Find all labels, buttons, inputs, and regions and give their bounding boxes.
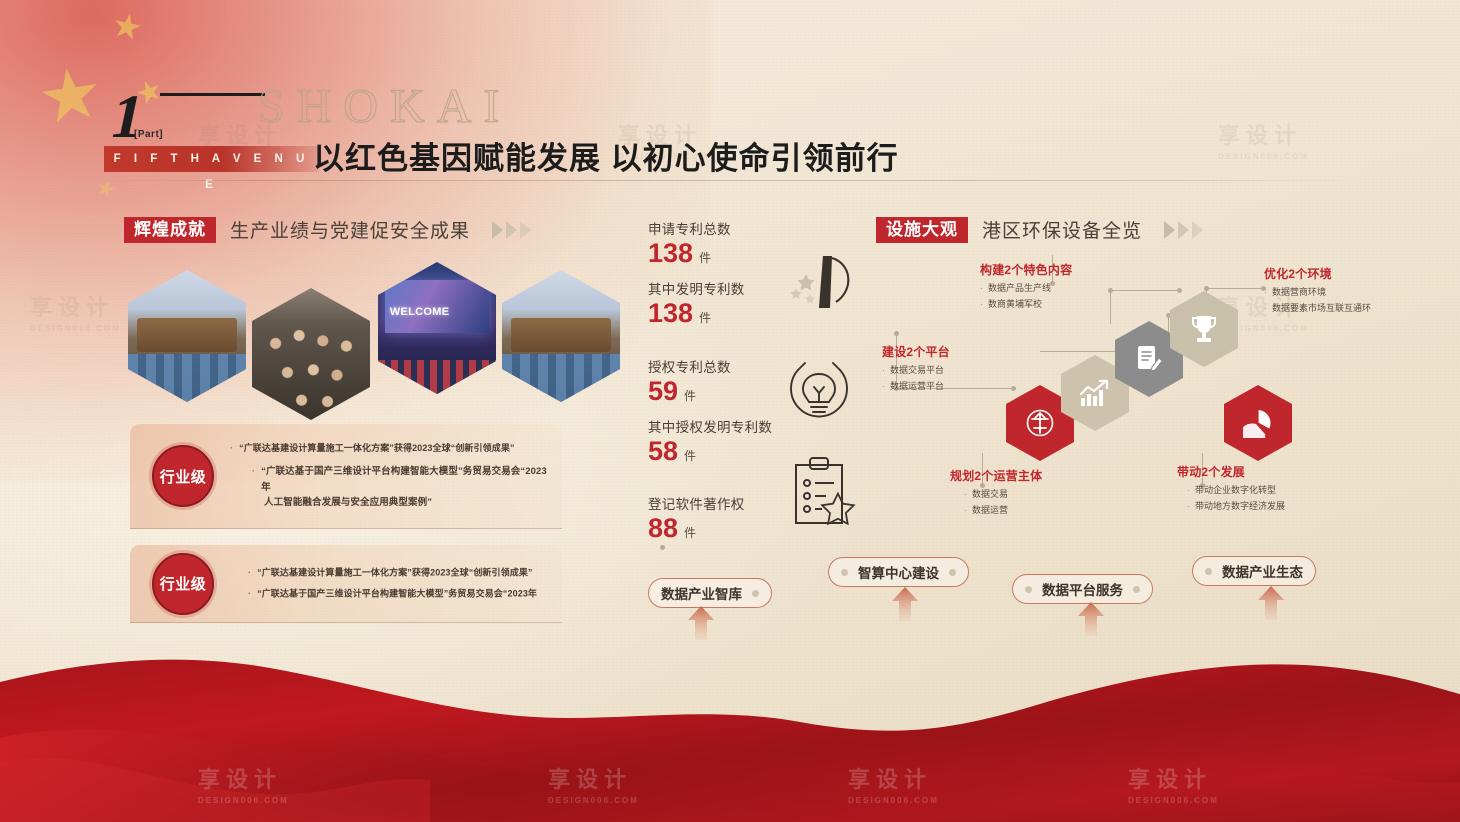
group-item-label: 数商黄埔军校	[988, 297, 1042, 313]
pill-platform-service[interactable]: 数据平台服务	[1012, 574, 1153, 604]
pill-label: 数据平台服务	[1042, 579, 1123, 599]
ribbon-label: F I F T H A V E N U E	[104, 146, 319, 198]
pill-label: 数据产业智库	[661, 583, 742, 603]
page-header: 1 [Part] SHOKAI F I F T H A V E N U E 以红…	[0, 0, 1460, 200]
pie-chart-icon	[1243, 408, 1273, 438]
group-item-label: 数据要素市场互联互通环	[1272, 301, 1371, 317]
award-text: “广联达基于国产三维设计平台构建智能大模型”务贸易交易会“2023年	[257, 587, 537, 602]
photo-gallery: WELCOME	[128, 262, 578, 392]
list-item: · “广联达基于国产三维设计平台构建智能大模型”务贸易交易会“2023年	[230, 587, 548, 602]
bullet-dot-icon: ·	[1264, 285, 1267, 301]
seal-badge: 行业级	[152, 553, 214, 615]
pill-dot-icon	[1205, 568, 1212, 575]
award-card: 行业级 · “广联达基建设计算量施工一体化方案”获得2023全球“创新引领成果”…	[130, 424, 562, 529]
part-label: [Part]	[134, 129, 163, 140]
list-item: · “广联达基建设计算量施工一体化方案”获得2023全球“创新引领成果”	[230, 441, 548, 456]
group-item-label: 数据产品生产线	[988, 281, 1051, 297]
group-title: 建设2个平台	[882, 343, 950, 360]
award-card: 行业级 · “广联达基建设计算量施工一体化方案”获得2023全球“创新引领成果”…	[130, 545, 562, 623]
section-header-facilities: 设施大观 港区环保设备全览	[876, 216, 1203, 243]
brand-wordmark: SHOKAI	[258, 79, 511, 134]
group-item: ·带动地方数字经济发展	[1187, 499, 1285, 515]
group-title: 带动2个发展	[1177, 463, 1285, 480]
connector-dot	[1011, 386, 1016, 391]
bullet-dot-icon: ·	[248, 565, 251, 580]
up-arrow-icon	[688, 606, 714, 640]
seal-label: 行业级	[160, 466, 207, 487]
pill-industry-ecosystem[interactable]: 数据产业生态	[1192, 556, 1316, 586]
bullet-dot-icon: ·	[1264, 301, 1267, 317]
bullet-dot-icon: ·	[1187, 483, 1190, 499]
connector-dot	[1177, 288, 1182, 293]
pill-dot-icon	[841, 569, 848, 576]
group-item-label: 数据交易	[972, 487, 1008, 503]
group-title: 规划2个运营主体	[950, 467, 1042, 484]
stat-label: 申请专利总数	[648, 218, 863, 238]
pill-label: 数据产业生态	[1222, 561, 1303, 581]
stat-unit: 件	[684, 524, 696, 541]
group-item: ·数据交易平台	[882, 363, 950, 379]
stat-unit: 件	[699, 249, 711, 266]
hex-red-right[interactable]	[1224, 385, 1292, 461]
group-item: ·数据要素市场互联互通环	[1264, 301, 1371, 317]
connector-line	[1110, 290, 1111, 324]
award-text: 人工智能融合发展与安全应用典型案例”	[264, 495, 432, 511]
bullet-dot-icon: ·	[882, 363, 885, 379]
hex-photo[interactable]: WELCOME	[378, 262, 496, 394]
connector-dot	[660, 545, 665, 550]
stat-value: 59	[648, 377, 678, 405]
group-item-label: 数据营商环境	[1272, 285, 1326, 301]
stat-value: 58	[648, 437, 678, 465]
header-ribbon: F I F T H A V E N U E	[104, 146, 319, 172]
bullet-dot-icon: ·	[1187, 499, 1190, 515]
seal-label: 行业级	[160, 573, 207, 594]
list-item: · “广联达基于国产三维设计平台构建智能大模型”务贸易交易会“2023年	[230, 464, 548, 495]
award-text: “广联达基建设计算量施工一体化方案”获得2023全球“创新引领成果”	[239, 441, 514, 456]
chevrons-right-icon	[1164, 221, 1203, 239]
header-rule	[160, 93, 265, 96]
stat-unit: 件	[699, 309, 711, 326]
connector-line	[1110, 290, 1180, 291]
stat-unit: 件	[684, 387, 696, 404]
pill-compute-center[interactable]: 智算中心建设	[828, 557, 969, 587]
list-item: · “广联达基建设计算量施工一体化方案”获得2023全球“创新引领成果”	[230, 565, 548, 580]
up-arrow-icon	[1078, 602, 1104, 636]
chevrons-right-icon	[492, 221, 531, 239]
group-item-label: 数据运营平台	[890, 379, 944, 395]
group-item: ·数据运营平台	[882, 379, 950, 395]
connector-dot	[894, 331, 899, 336]
header-divider	[104, 180, 1366, 181]
hex-photo[interactable]	[128, 270, 246, 402]
pill-dot-icon	[949, 569, 956, 576]
group-item-label: 带动企业数字化转型	[1195, 483, 1276, 499]
red-silk-wave	[0, 642, 1460, 822]
group-title: 构建2个特色内容	[980, 261, 1072, 278]
group-item: ·带动企业数字化转型	[1187, 483, 1285, 499]
group-item: ·数商黄埔军校	[980, 297, 1072, 313]
seal-badge: 行业级	[152, 445, 214, 507]
group-item: ·数据产品生产线	[980, 281, 1072, 297]
connector-line	[1206, 288, 1264, 289]
photo-overlay-text: WELCOME	[390, 306, 450, 318]
award-list: · “广联达基建设计算量施工一体化方案”获得2023全球“创新引领成果” · “…	[230, 441, 548, 511]
up-arrow-icon	[1258, 586, 1284, 620]
document-pen-icon	[1134, 343, 1164, 375]
bullet-dot-icon: ·	[248, 587, 251, 602]
connector-dot	[1204, 286, 1209, 291]
bullet-dot-icon: ·	[230, 441, 233, 456]
trophy-icon	[1189, 313, 1219, 345]
bullet-dot-icon: ·	[252, 464, 255, 495]
group-item-label: 带动地方数字经济发展	[1195, 499, 1285, 515]
bullet-dot-icon: ·	[964, 503, 967, 519]
facility-diagram: 构建2个特色内容 ·数据产品生产线 ·数商黄埔军校 优化2个环境 ·数据营商环境…	[872, 255, 1392, 545]
group-item-label: 数据运营	[972, 503, 1008, 519]
hex-photo[interactable]	[502, 270, 620, 402]
up-arrow-icon	[892, 587, 918, 621]
pill-dot-icon	[1025, 586, 1032, 593]
pill-dot-icon	[1133, 586, 1140, 593]
growth-chart-icon	[1078, 378, 1112, 408]
section-subtitle-right: 港区环保设备全览	[982, 216, 1142, 243]
pill-label: 智算中心建设	[858, 562, 939, 582]
clipboard-star-icon	[786, 455, 860, 531]
diagram-group-operator: 规划2个运营主体 ·数据交易 ·数据运营	[950, 467, 1042, 519]
bullet-dot-icon: ·	[980, 281, 983, 297]
section-tag-right: 设施大观	[876, 217, 968, 243]
bullet-dot-icon: ·	[964, 487, 967, 503]
award-list: · “广联达基建设计算量施工一体化方案”获得2023全球“创新引领成果” · “…	[230, 565, 548, 602]
stat-value: 138	[648, 239, 693, 267]
award-text: “广联达基于国产三维设计平台构建智能大模型”务贸易交易会“2023年	[261, 464, 548, 495]
group-item: ·数据交易	[964, 487, 1042, 503]
section-subtitle-left: 生产业绩与党建促安全成果	[230, 216, 470, 243]
stat-value: 88	[648, 514, 678, 542]
page-title: 以红色基因赋能发展 以初心使命引领前行	[313, 133, 899, 178]
ribbon-seal-icon	[1025, 408, 1055, 438]
bullet-dot-icon: ·	[980, 297, 983, 313]
hex-photo[interactable]	[252, 288, 370, 420]
diagram-group-platform: 建设2个平台 ·数据交易平台 ·数据运营平台	[882, 343, 950, 395]
group-item: ·数据运营	[964, 503, 1042, 519]
diagram-group-content: 构建2个特色内容 ·数据产品生产线 ·数商黄埔军校	[980, 261, 1072, 313]
diagram-group-environment: 优化2个环境 ·数据营商环境 ·数据要素市场互联互通环	[1264, 265, 1371, 317]
section-tag-left: 辉煌成就	[124, 217, 216, 243]
section-header-achievements: 辉煌成就 生产业绩与党建促安全成果	[124, 216, 531, 243]
connector-dot	[1108, 288, 1113, 293]
diagram-group-development: 带动2个发展 ·带动企业数字化转型 ·带动地方数字经济发展	[1177, 463, 1285, 515]
award-text: “广联达基建设计算量施工一体化方案”获得2023全球“创新引领成果”	[257, 565, 532, 580]
stat-value: 138	[648, 299, 693, 327]
pill-data-think-tank[interactable]: 数据产业智库	[648, 578, 772, 608]
stat-unit: 件	[684, 447, 696, 464]
trophy-icon	[780, 248, 864, 330]
pill-dot-icon	[752, 590, 759, 597]
bullet-dot-icon: ·	[882, 379, 885, 395]
list-item: 人工智能融合发展与安全应用典型案例”	[230, 495, 548, 511]
group-item-label: 数据交易平台	[890, 363, 944, 379]
lightbulb-icon	[778, 350, 860, 432]
group-title: 优化2个环境	[1264, 265, 1371, 282]
group-item: ·数据营商环境	[1264, 285, 1371, 301]
